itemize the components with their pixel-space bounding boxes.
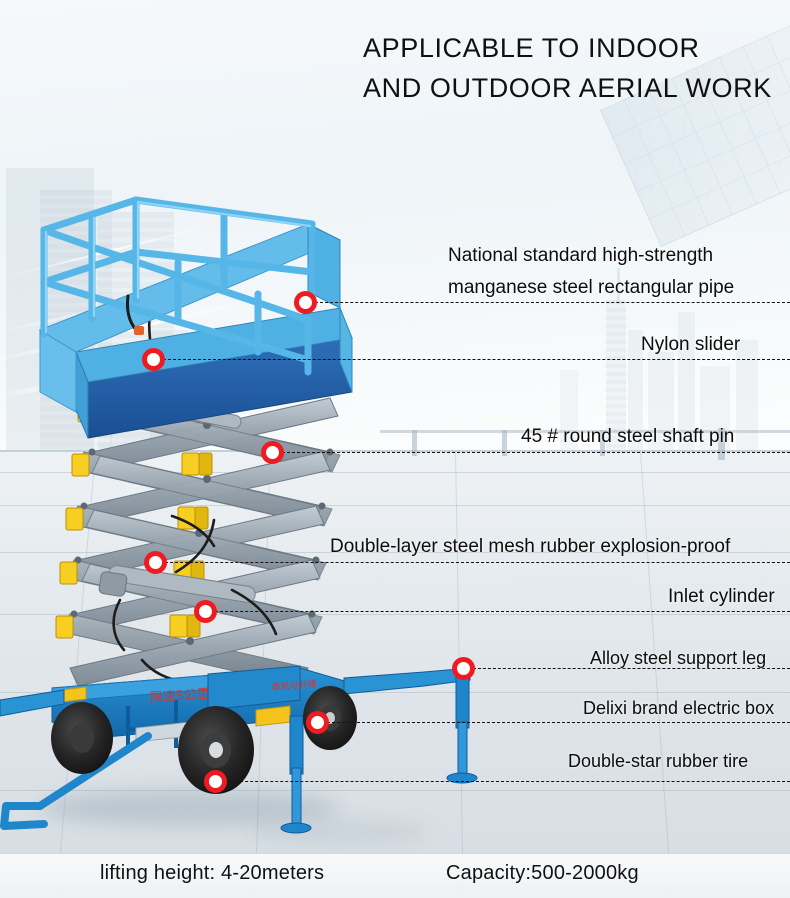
callout-label-shaft-pin: 45 # round steel shaft pin — [521, 426, 734, 448]
alloy-steel-support-leg — [447, 666, 477, 783]
product-infographic: 限速5公里 本机可升降 APPLICABLE TO INDOOR AND OUT… — [0, 0, 790, 898]
callout-label-support-leg: Alloy steel support leg — [590, 648, 766, 669]
callout-label-electric-box: Delixi brand electric box — [583, 698, 774, 719]
callout-label-nylon-slider: Nylon slider — [641, 334, 740, 356]
marker-shaft-pin[interactable] — [261, 441, 284, 464]
leader-line-electric-box — [317, 722, 790, 723]
callout-label-manganese-pipe-line2: manganese steel rectangular pipe — [448, 277, 734, 299]
leader-line-shaft-pin — [272, 452, 790, 453]
scissor-arm-stack — [62, 398, 340, 686]
spec-capacity: Capacity:500-2000kg — [446, 862, 639, 885]
marker-electric-box[interactable] — [306, 711, 329, 734]
marker-manganese-pipe[interactable] — [294, 291, 317, 314]
marker-explosion-proof[interactable] — [144, 551, 167, 574]
control-connector — [134, 326, 144, 335]
spec-lifting-height: lifting height: 4-20meters — [100, 862, 324, 885]
callout-label-inlet-cylinder: Inlet cylinder — [668, 586, 775, 608]
headline-line-2: AND OUTDOOR AERIAL WORK — [363, 73, 772, 104]
marker-inlet-cylinder[interactable] — [194, 600, 217, 623]
marker-rubber-tire[interactable] — [204, 770, 227, 793]
leader-line-explosion-proof — [155, 562, 790, 563]
marker-support-leg[interactable] — [452, 657, 475, 680]
callout-label-rubber-tire: Double-star rubber tire — [568, 751, 748, 772]
leader-line-manganese-pipe — [305, 302, 790, 303]
outrigger-arm-right — [344, 668, 470, 694]
leader-line-nylon-slider — [153, 359, 790, 360]
callout-label-manganese-pipe-line1: National standard high-strength — [448, 245, 713, 267]
leader-line-rubber-tire — [215, 781, 790, 782]
marker-nylon-slider[interactable] — [142, 348, 165, 371]
headline-line-1: APPLICABLE TO INDOOR — [363, 33, 700, 64]
spec-band-divider — [0, 853, 790, 854]
callout-label-explosion-proof: Double-layer steel mesh rubber explosion… — [330, 536, 730, 558]
leader-line-inlet-cylinder — [205, 611, 790, 612]
